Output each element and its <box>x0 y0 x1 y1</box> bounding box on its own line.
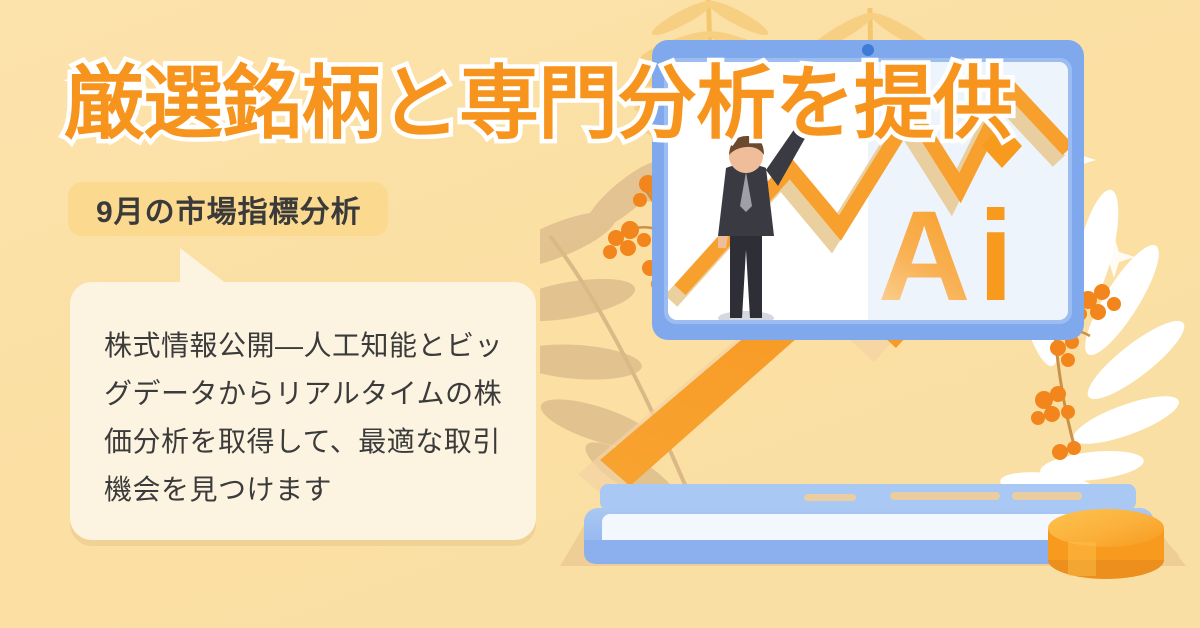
coin-icon <box>1048 509 1164 579</box>
speech-bubble-tail <box>180 248 232 288</box>
promotional-banner: A i <box>0 0 1200 628</box>
speech-bubble-text: 株式情報公開—人工知能とビッグデータからリアルタイムの株価分析を取得して、最適な… <box>104 322 514 514</box>
status-badge: 9月の市場指標分析 <box>68 182 388 236</box>
page-title: 厳選銘柄と専門分析を提供 <box>64 52 1144 156</box>
ai-logo-letter-i: i <box>978 185 1014 328</box>
ai-logo-letter-a: A <box>878 185 970 328</box>
